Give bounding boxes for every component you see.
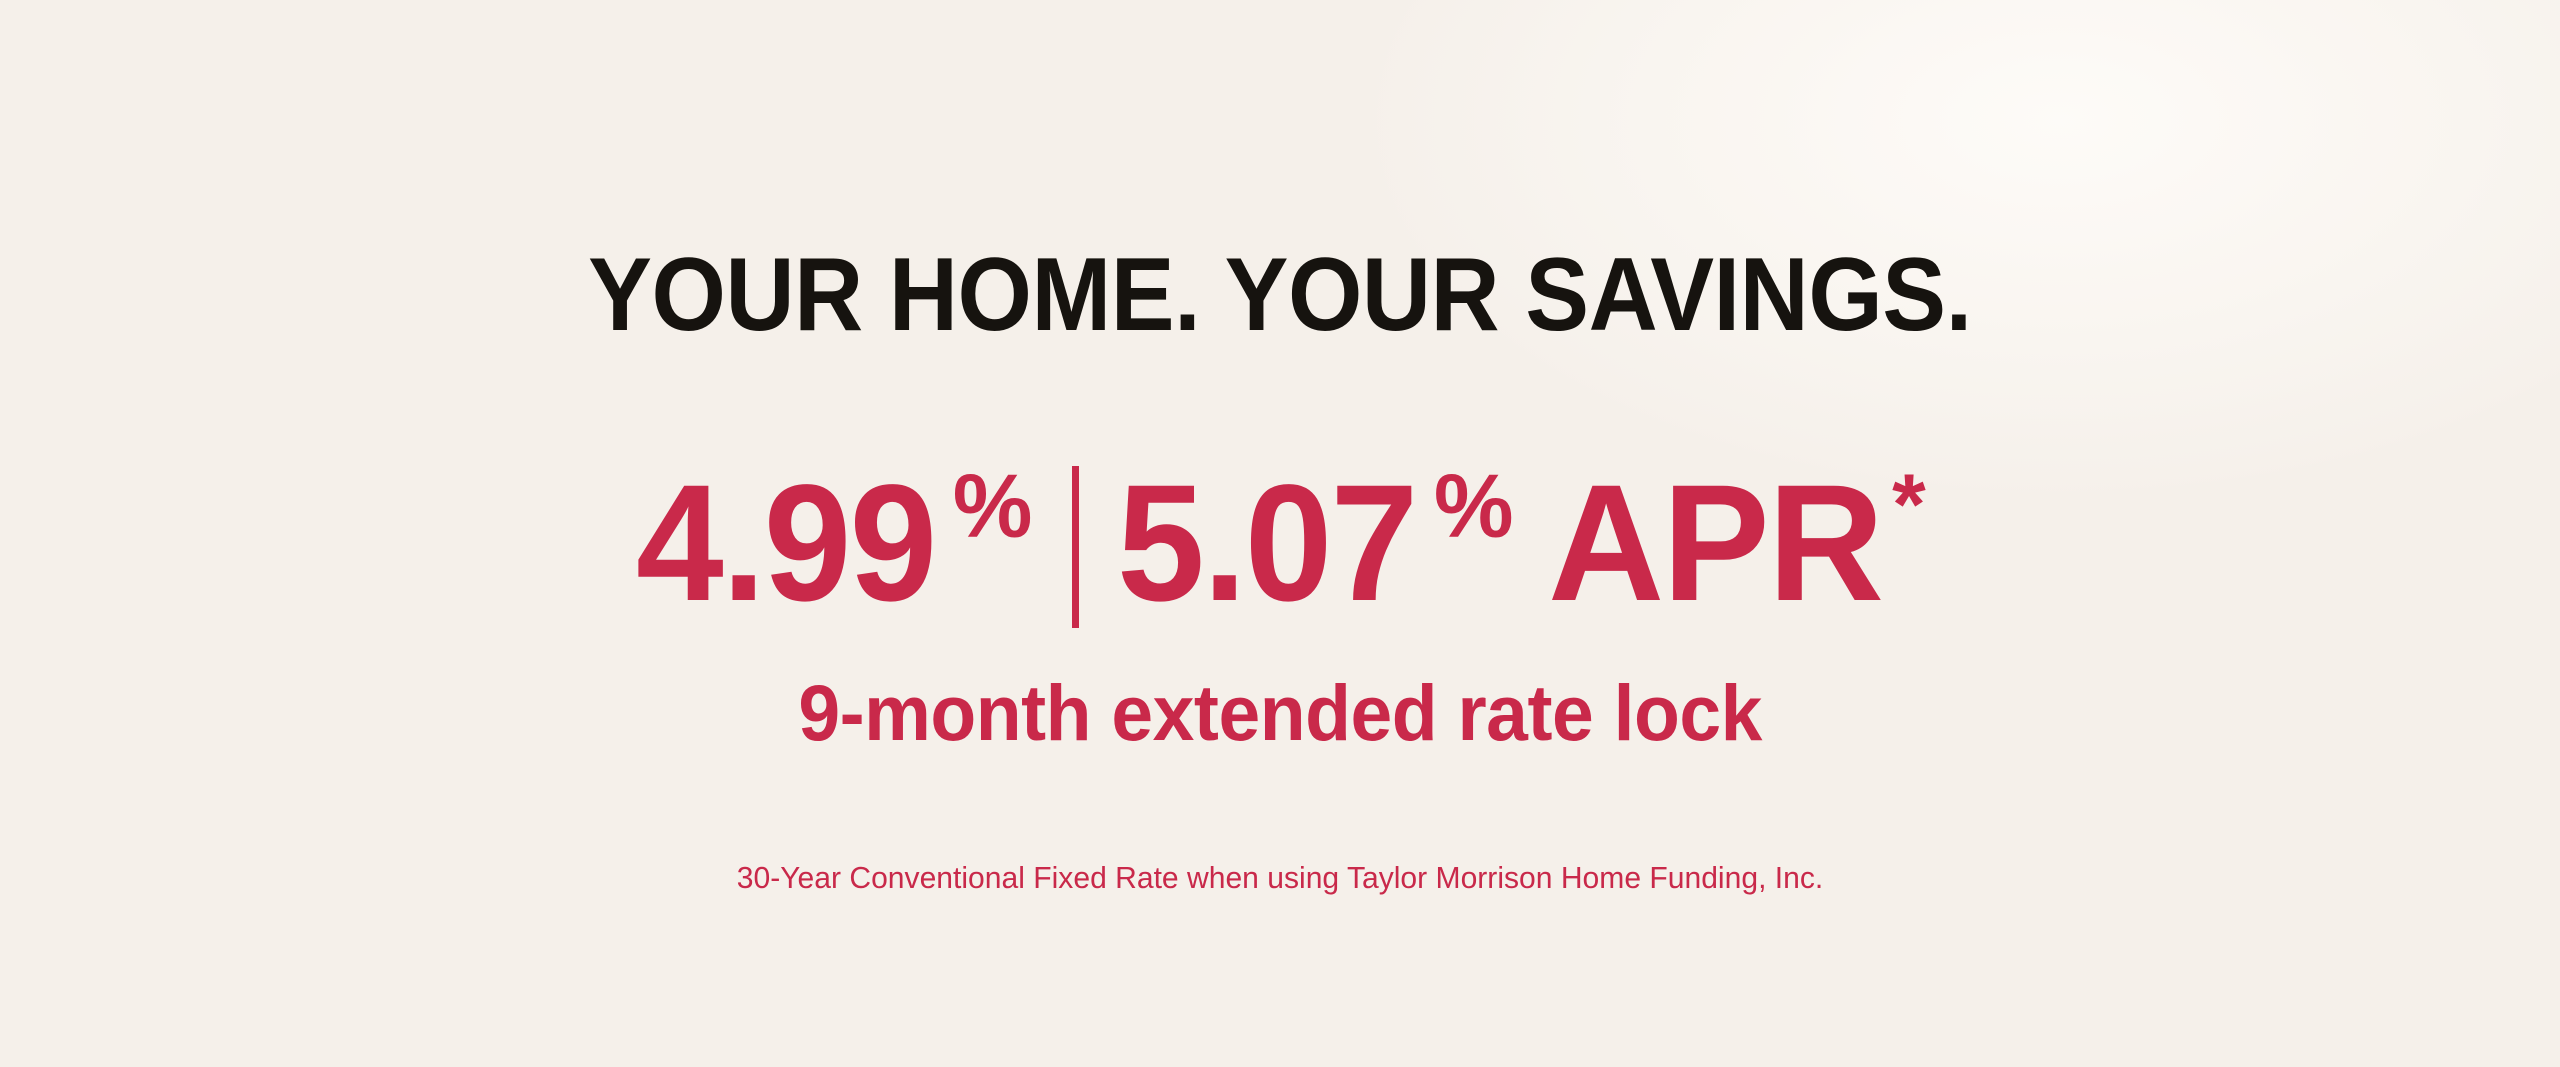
interest-rate-percent-symbol: %	[953, 462, 1031, 552]
banner-content: YOUR HOME. YOUR SAVINGS. 4.99 % 5.07 % A…	[0, 0, 2560, 1067]
page-title: YOUR HOME. YOUR SAVINGS.	[588, 243, 1972, 347]
apr-rate-value: 5.07	[1117, 461, 1416, 627]
rate-lock-subhead: 9-month extended rate lock	[798, 673, 1762, 752]
interest-rate-group: 4.99 %	[636, 461, 1030, 627]
rate-display: 4.99 % 5.07 % APR *	[636, 461, 1923, 628]
apr-footnote-asterisk: *	[1892, 462, 1924, 548]
apr-label: APR	[1548, 461, 1882, 627]
apr-rate-group: 5.07 % APR *	[1117, 461, 1923, 627]
apr-rate-percent-symbol: %	[1434, 462, 1512, 552]
rate-promotion-banner: YOUR HOME. YOUR SAVINGS. 4.99 % 5.07 % A…	[0, 0, 2560, 1067]
rate-divider	[1072, 466, 1079, 628]
interest-rate-value: 4.99	[636, 461, 935, 627]
disclaimer-text: 30-Year Conventional Fixed Rate when usi…	[737, 859, 1823, 896]
